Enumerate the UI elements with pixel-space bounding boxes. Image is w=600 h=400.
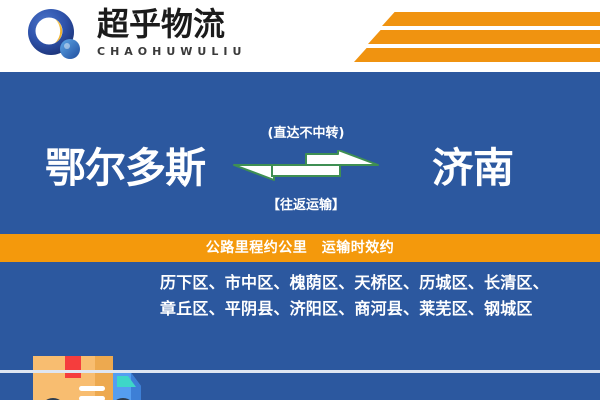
coverage-line: 历下区、市中区、槐荫区、天桥区、历城区、长清区、 bbox=[160, 270, 590, 296]
company-logo-icon bbox=[25, 8, 87, 62]
distance-duration-text: 公路里程约公里 运输时效约 bbox=[206, 239, 395, 257]
route-arrow-group: (直达不中转) 【往返运输】 bbox=[232, 120, 380, 230]
route-row: 鄂尔多斯 (直达不中转) 【往返运输】 济南 bbox=[0, 120, 600, 230]
direct-shipping-note: (直达不中转) bbox=[232, 126, 380, 142]
brand-name-pinyin: CHAOHUWULIU bbox=[97, 45, 262, 58]
delivery-truck-icon bbox=[25, 346, 150, 400]
brand-name-cn: 超乎物流 bbox=[97, 6, 262, 42]
distance-duration-bar: 公路里程约公里 运输时效约 bbox=[0, 234, 600, 262]
bidirectional-arrow-icon bbox=[228, 150, 384, 196]
coverage-line: 章丘区、平阴县、济阳区、商河县、莱芜区、钢城区 bbox=[160, 296, 590, 322]
destination-city-label: 济南 bbox=[378, 142, 568, 194]
logistics-route-banner: 超乎物流 CHAOHUWULIU 鄂尔多斯 (直达不中转) bbox=[0, 0, 600, 400]
origin-city-label: 鄂尔多斯 bbox=[10, 142, 240, 194]
banner-header: 超乎物流 CHAOHUWULIU bbox=[0, 0, 600, 72]
coverage-district-list: 历下区、市中区、槐荫区、天桥区、历城区、长清区、 章丘区、平阴县、济阳区、商河县… bbox=[160, 270, 590, 322]
decor-stripe-2 bbox=[368, 30, 600, 44]
decor-stripe-1 bbox=[382, 12, 600, 26]
bottom-divider bbox=[0, 370, 600, 373]
brand-text-block: 超乎物流 CHAOHUWULIU bbox=[97, 6, 262, 64]
decor-stripe-3 bbox=[354, 48, 600, 62]
roundtrip-note: 【往返运输】 bbox=[232, 198, 380, 214]
main-blue-panel: 鄂尔多斯 (直达不中转) 【往返运输】 济南 bbox=[0, 72, 600, 400]
